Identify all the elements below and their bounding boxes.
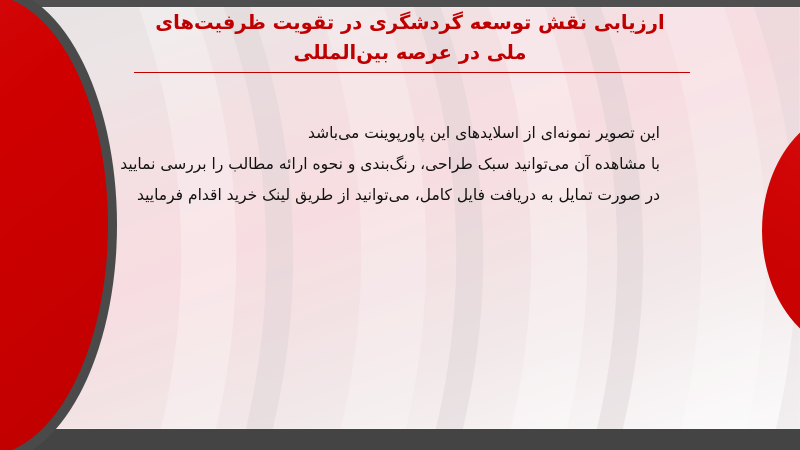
body-line-2: با مشاهده آن می‌توانید سبک طراحی، رنگ‌بن… <box>140 149 660 180</box>
body-line-3: در صورت تمایل به دریافت فایل کامل، می‌تو… <box>140 180 660 211</box>
slide-body-text: این تصویر نمونه‌ای از اسلایدهای این پاور… <box>140 118 660 211</box>
slide-title: ارزیابی نقش توسعه گردشگری در تقویت ظرفیت… <box>120 8 700 68</box>
body-line-1: این تصویر نمونه‌ای از اسلایدهای این پاور… <box>140 118 660 149</box>
slide-content-panel <box>0 7 800 429</box>
slide-title-line-2: ملی در عرصه بین‌المللی <box>120 38 700 68</box>
presentation-slide: ارزیابی نقش توسعه گردشگری در تقویت ظرفیت… <box>0 0 800 450</box>
title-divider-rule <box>134 72 690 73</box>
slide-title-line-1: ارزیابی نقش توسعه گردشگری در تقویت ظرفیت… <box>120 8 700 38</box>
